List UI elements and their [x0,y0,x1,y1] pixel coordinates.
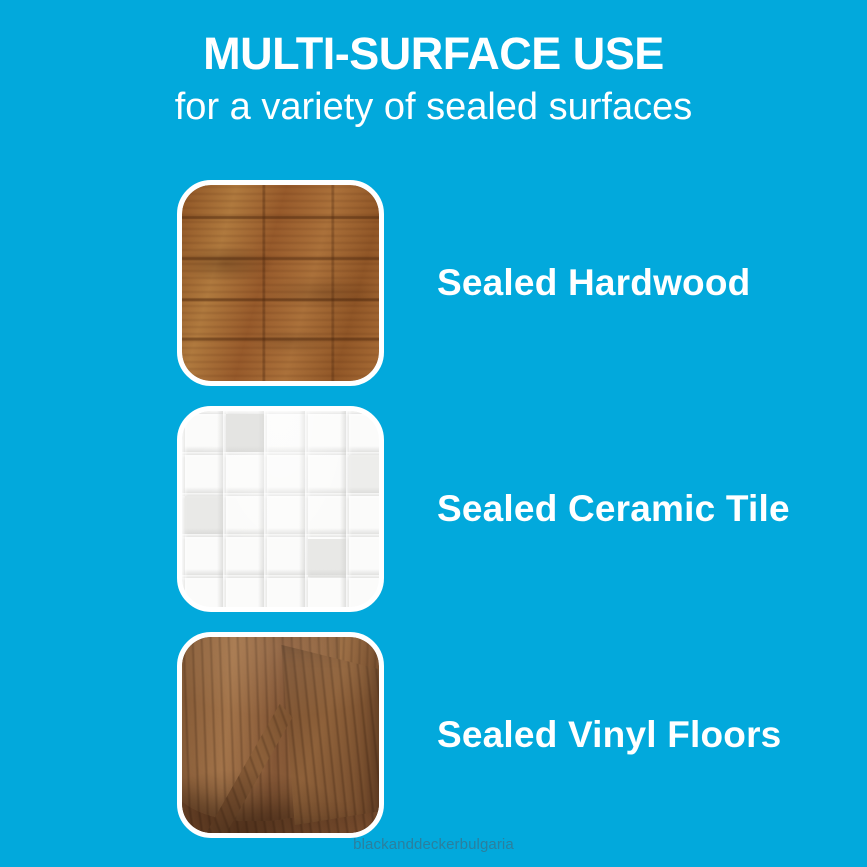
ceramic-tile-thumbnail-card [177,406,384,612]
page-title: MULTI-SURFACE USE [0,30,867,79]
multi-surface-use-poster: MULTI-SURFACE USE for a variety of seale… [0,0,867,867]
vinyl-roll-illustration [182,637,379,833]
hardwood-floor-swatch-image [182,185,379,381]
list-item: Sealed Vinyl Floors [0,632,867,838]
ceramic-tile-swatch-image [182,411,379,607]
vinyl-thumbnail-card [177,632,384,838]
hardwood-thumbnail-card [177,180,384,386]
vinyl-floor-roll-swatch-image [182,637,379,833]
list-item: Sealed Ceramic Tile [0,406,867,612]
vinyl-shading-overlay [182,637,379,833]
surface-list: Sealed Hardwood Sealed Ceramic Tile [0,180,867,858]
watermark: blackanddeckerbulgaria [0,836,867,853]
poster-header: MULTI-SURFACE USE for a variety of seale… [0,0,867,129]
list-item: Sealed Hardwood [0,180,867,386]
surface-label-vinyl-floors: Sealed Vinyl Floors [437,632,781,838]
surface-label-hardwood: Sealed Hardwood [437,180,750,386]
surface-label-ceramic-tile: Sealed Ceramic Tile [437,406,790,612]
page-subtitle: for a variety of sealed surfaces [0,85,867,130]
